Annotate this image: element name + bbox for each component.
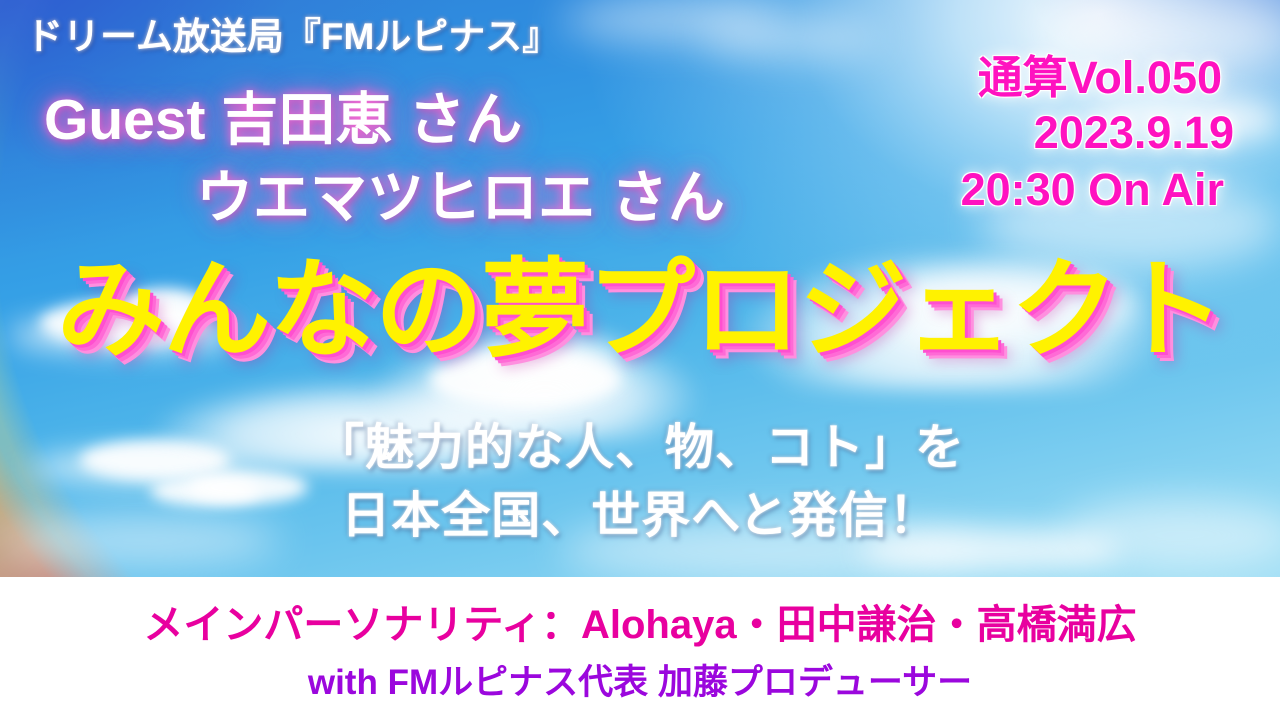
footer-bar: メインパーソナリティ：Alohaya・田中謙治・高橋満広 with FMルピナス… xyxy=(0,577,1280,720)
cloud-icon xyxy=(188,470,308,504)
guest-name-line-2: ウエマツヒロエ さん xyxy=(196,170,725,227)
cloud-icon xyxy=(0,516,280,564)
program-title: みんなの夢プロジェクト xyxy=(57,256,1223,364)
broadcast-time-label: 20:30 On Air xyxy=(961,167,1224,212)
broadcast-date-label: 2023.9.19 xyxy=(1034,110,1234,155)
tagline-line-1: 「魅力的な人、物、コト」を xyxy=(315,424,965,473)
with-producer-label: with FMルピナス代表 加藤プロデューサー xyxy=(308,654,972,705)
guest-name-line-1: Guest 吉田恵 さん xyxy=(44,92,522,149)
station-name-label: ドリーム放送局『FMルピナス』 xyxy=(26,18,559,55)
promo-graphic: ドリーム放送局『FMルピナス』 Guest 吉田恵 さん ウエマツヒロエ さん … xyxy=(0,0,1280,720)
main-personalities-label: メインパーソナリティ：Alohaya・田中謙治・高橋満広 xyxy=(143,592,1136,650)
tagline-line-2: 日本全国、世界へと発信！ xyxy=(341,492,939,541)
cloud-icon xyxy=(700,20,880,56)
broadcast-volume-label: 通算Vol.050 xyxy=(978,55,1222,100)
